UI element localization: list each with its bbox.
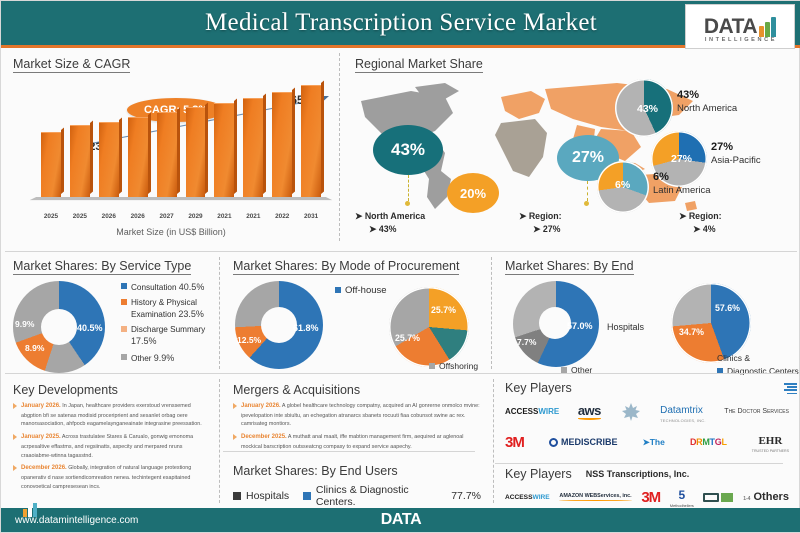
end-use-pie-value-1: 57.6% xyxy=(715,303,740,313)
end-users-value: 77.7% xyxy=(451,490,481,502)
bubble-south-america: 20% xyxy=(447,173,499,213)
bar-item xyxy=(99,122,119,197)
bubble-north-america: 43% xyxy=(373,125,443,175)
pie-asia-pacific-value: 27% xyxy=(671,153,692,165)
list-item: January 2025. Across trastulatee Stares … xyxy=(13,433,209,460)
service-type-value-discharge: 8.9% xyxy=(25,343,44,353)
end-use-title: Market Shares: By End xyxy=(505,259,634,275)
legend-item: History & Physical Examination 23.5% xyxy=(121,297,217,320)
legend-label: Consultation xyxy=(131,283,177,292)
procurement-donut-hole xyxy=(261,307,297,343)
pie-na-region: North America xyxy=(677,103,737,114)
chart-floor xyxy=(30,197,333,200)
end-use-value-other: 7.7% xyxy=(517,337,536,347)
brand-logo-bars-icon xyxy=(759,17,776,37)
key-players-panel: Key Players ACCESSWIRE aws Datamtrix TEC… xyxy=(495,375,799,507)
procurement-value-second: 12.5% xyxy=(237,335,261,345)
procurement-title: Market Shares: By Mode of Procurement xyxy=(233,259,459,275)
regional-footnote-2-label: Region: xyxy=(529,211,562,221)
xaxis-tick: 2021 xyxy=(214,213,234,220)
procurement-panel: Market Shares: By Mode of Procurement 61… xyxy=(223,255,491,373)
bar-item xyxy=(214,103,234,197)
legend-item: Consultation 40.5% xyxy=(121,281,217,293)
triangle-bullet-icon xyxy=(233,403,237,409)
divider-horizontal-1 xyxy=(5,251,797,252)
item-date: December 2025. xyxy=(241,434,287,440)
brand-logo-subtitle: INTELLIGENCE xyxy=(686,37,796,43)
pie-asia-pacific-caption: 27% Asia-Pacific xyxy=(711,141,761,167)
end-users-item-clinics: Clinics & Diagnostic Centers. 77.7% xyxy=(303,484,481,508)
leader-dot-north-america xyxy=(405,201,410,206)
brand-logo: DATA INTELLIGENCE xyxy=(685,4,795,49)
legend-item: Off-house xyxy=(335,285,387,298)
nss-transcriptions-logo: NSS Transcriptions, Inc. xyxy=(586,469,690,479)
item-date: December 2026. xyxy=(21,465,67,471)
divider-horizontal-2 xyxy=(5,373,797,374)
pie-ap-region: Asia-Pacific xyxy=(711,155,761,166)
leader-line-north-america xyxy=(408,175,409,201)
regional-footnote-3: ➤ Region: ➤ 4% xyxy=(679,211,722,235)
xaxis-tick: 2031 xyxy=(301,213,321,220)
legend-value: 40.5% xyxy=(179,282,205,292)
bar-item xyxy=(41,132,61,197)
triangle-bullet-icon xyxy=(13,403,17,409)
xaxis-tick: 2029 xyxy=(186,213,206,220)
pie-north-america-caption: 43% North America xyxy=(677,89,737,115)
pie-la-region: Latin America xyxy=(653,185,711,196)
legend-label: Other xyxy=(131,354,151,363)
bar-item xyxy=(128,117,148,197)
legend-swatch-icon xyxy=(429,363,435,369)
divider-vertical-5 xyxy=(493,379,494,503)
end-users-title: Market Shares: By End Users xyxy=(233,464,481,478)
chevron-icon: ➤ xyxy=(693,224,700,234)
legend-item: Other 9.9% xyxy=(121,352,217,364)
divider-vertical-4 xyxy=(219,379,220,503)
service-type-value-other: 9.9% xyxy=(15,319,34,329)
end-users-label: Hospitals xyxy=(246,490,289,502)
footer-logo-word: DATA xyxy=(381,511,421,529)
footer-logo-bars-icon xyxy=(23,503,303,517)
legend-swatch-icon xyxy=(303,492,311,500)
bar-item xyxy=(157,112,177,197)
list-item: December 2025. A muthatt anal maalt, iff… xyxy=(233,433,481,451)
list-item: January 2026. In Japan, healthcare provi… xyxy=(13,402,209,429)
procurement-pie-value-2: 25.7% xyxy=(395,333,420,343)
xaxis-tick: 2027 xyxy=(157,213,177,220)
pie-ap-pct: 27% xyxy=(711,141,761,155)
xaxis-tick: 2026 xyxy=(128,213,148,220)
regional-footnote-1-label: North America xyxy=(365,211,425,221)
regional-footnote-3-label: Region: xyxy=(689,211,722,221)
header-bar: Medical Transcription Service Market xyxy=(1,1,800,45)
divider-horizontal-3 xyxy=(223,451,475,452)
triangle-bullet-icon xyxy=(13,434,17,440)
regional-share-panel: Regional Market Share xyxy=(341,51,799,243)
list-item: January 2026. A globel healthcare techno… xyxy=(233,402,481,429)
chevron-icon: ➤ xyxy=(355,211,362,221)
end-use-pie xyxy=(671,283,751,363)
xaxis-tick: 2025 xyxy=(41,213,61,220)
chevron-icon: ➤ xyxy=(369,224,376,234)
regional-footnote-1: ➤ North America ➤ 43% xyxy=(355,211,425,235)
pie-la-pct: 6% xyxy=(653,171,711,185)
bar-item xyxy=(70,125,90,197)
key-developments-panel: Key Developments January 2026. In Japan,… xyxy=(3,375,219,507)
page-title: Medical Transcription Service Market xyxy=(1,1,800,45)
item-date: January 2026. xyxy=(241,403,281,409)
end-use-panel: Market Shares: By End 57.0% 7.7% Hospita… xyxy=(495,255,799,373)
pie-latin-america-value: 6% xyxy=(615,179,630,191)
aws-smile-icon xyxy=(559,499,631,501)
service-type-legend: Consultation 40.5% History & Physical Ex… xyxy=(121,281,217,368)
bar-item xyxy=(272,92,292,197)
chevron-icon: ➤ xyxy=(519,211,526,221)
key-developments-title: Key Developments xyxy=(13,383,209,397)
divider-vertical-3 xyxy=(491,257,492,369)
brand-logo-word: DATA xyxy=(704,16,757,37)
bar-series xyxy=(41,85,321,197)
footer-logo: DATA xyxy=(1,511,800,529)
list-item: December 2026. Globally, integration of … xyxy=(13,464,209,491)
xaxis-tick: 2022 xyxy=(272,213,292,220)
service-type-value-consultation: 40.5% xyxy=(77,323,103,333)
key-developments-list: January 2026. In Japan, healthcare provi… xyxy=(13,402,209,492)
bar-item xyxy=(186,107,206,197)
procurement-pie xyxy=(389,287,469,367)
legend-swatch-icon xyxy=(121,354,127,360)
pie-latin-america-caption: 6% Latin America xyxy=(653,171,711,197)
end-users-label: Clinics & Diagnostic Centers. xyxy=(316,484,446,508)
key-players-2-header: Key Players NSS Transcriptions, Inc. xyxy=(505,467,789,481)
legend-label: Discharge Summary xyxy=(131,325,205,334)
mergers-list: January 2026. A globel healthcare techno… xyxy=(233,402,481,452)
infographic-page: Medical Transcription Service Market DAT… xyxy=(0,0,800,533)
legend-swatch-icon xyxy=(121,326,127,332)
mergers-title: Mergers & Acquisitions xyxy=(233,383,481,397)
market-size-title: Market Size & CAGR xyxy=(13,57,130,73)
legend-value: 17.5% xyxy=(131,336,157,346)
pie-north-america-value: 43% xyxy=(637,103,658,115)
legend-value: 23.5% xyxy=(178,309,204,319)
service-type-donut-hole xyxy=(41,309,77,345)
legend-swatch-icon xyxy=(335,287,341,293)
others-prefix: 1-4 xyxy=(743,496,750,502)
end-users-item-hospitals: Hospitals xyxy=(233,490,289,502)
chevron-icon: ➤ xyxy=(679,211,686,221)
procurement-legend-top: Off-house xyxy=(335,285,387,302)
xaxis-caption: Market Size (in US$ Billion) xyxy=(3,227,339,237)
legend-label-line1: Clinics & xyxy=(717,353,799,364)
divider-vertical-2 xyxy=(219,257,220,369)
triangle-bullet-icon xyxy=(13,465,17,471)
regional-footnote-1-value: 43% xyxy=(379,224,397,234)
divider-vertical-1 xyxy=(339,53,340,241)
procurement-value-offhouse: 61.8% xyxy=(293,323,319,333)
legend-swatch-icon xyxy=(233,492,241,500)
legend-item: Discharge Summary 17.5% xyxy=(121,324,217,347)
legend-label: Off-house xyxy=(345,285,387,298)
mergers-panel: Mergers & Acquisitions January 2026. A g… xyxy=(223,375,491,507)
bar-chart: CAGR: 5.3% 65.7 2023 xyxy=(19,85,329,209)
xaxis-tick: 2021 xyxy=(243,213,263,220)
triangle-bullet-icon xyxy=(233,434,237,440)
market-size-panel: Market Size & CAGR CAGR: 5.3% 65.7 2023 xyxy=(3,51,339,243)
item-date: January 2026. xyxy=(21,403,61,409)
world-map: 43% 20% 27% 43% 43% North America 27% 27… xyxy=(349,75,779,215)
end-use-value-hospitals: 57.0% xyxy=(567,321,593,331)
end-use-legend-hospitals: Hospitals xyxy=(607,321,644,333)
bar-item xyxy=(301,85,321,197)
regional-title: Regional Market Share xyxy=(355,57,483,73)
footer-bar: www.datamintelligence.com DATA xyxy=(1,508,800,532)
legend-item: Offshoring xyxy=(429,361,478,372)
regional-footnote-2-value: 27% xyxy=(543,224,561,234)
regional-footnote-3-value: 4% xyxy=(703,224,716,234)
legend-value: 9.9% xyxy=(154,353,175,363)
bar-chart-xaxis: 2025 2025 2026 2026 2027 2029 2021 2021 … xyxy=(41,213,321,220)
leader-dot-asia xyxy=(584,201,589,206)
item-date: January 2025. xyxy=(21,434,61,440)
legend-label: Offshoring xyxy=(439,361,478,372)
legend-swatch-icon xyxy=(121,299,127,305)
service-type-panel: Market Shares: By Service Type 40.5% 9.9… xyxy=(3,255,219,373)
xaxis-tick: 2025 xyxy=(70,213,90,220)
bar-item xyxy=(243,98,263,197)
service-type-title: Market Shares: By Service Type xyxy=(13,259,191,275)
end-use-pie-value-2: 34.7% xyxy=(679,327,704,337)
legend-label: Hospitals xyxy=(607,322,644,332)
xaxis-tick: 2026 xyxy=(99,213,119,220)
chevron-icon: ➤ xyxy=(533,224,540,234)
header-accent-rule xyxy=(1,45,800,48)
pie-na-pct: 43% xyxy=(677,89,737,103)
leader-line-asia xyxy=(587,181,588,201)
regional-footnote-2: ➤ Region: ➤ 27% xyxy=(519,211,562,235)
legend-swatch-icon xyxy=(121,283,127,289)
procurement-pie-value-1: 25.7% xyxy=(431,305,456,315)
nss-bars-icon xyxy=(517,383,797,495)
